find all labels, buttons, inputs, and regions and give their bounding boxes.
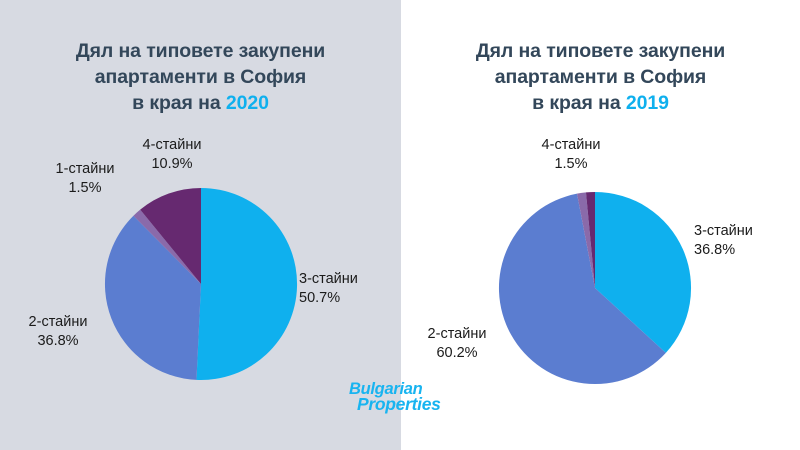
chart-title-2019: Дял на типовете закупени апартаменти в С… — [401, 38, 800, 116]
chart-title-year: 2019 — [626, 92, 669, 114]
chart-title-line-1: Дял на типовете закупени — [76, 40, 325, 62]
chart-panel-2020: Дял на типовете закупени апартаменти в С… — [0, 0, 401, 450]
pie-label-2-stayni-category-2020: 2-стайни — [8, 313, 108, 332]
pie-label-2-stayni-percent-2020: 36.8% — [8, 332, 108, 351]
pie-label-1-stayni-percent-2020: 1.5% — [30, 179, 140, 198]
chart-title-line-3: в края на — [132, 92, 226, 114]
chart-title-line-2: апартаменти в София — [95, 66, 306, 88]
pie-label-3-stayni-percent-2019: 36.8% — [694, 241, 800, 260]
pie-label-3-stayni-percent-2020: 50.7% — [299, 289, 409, 308]
pie-label-4-stayni-2019: 4-стайни 1.5% — [516, 136, 626, 174]
infographic-canvas: Дял на типовете закупени апартаменти в С… — [0, 0, 800, 450]
pie-label-2-stayni-percent-2019: 60.2% — [402, 344, 512, 363]
pie-label-2-stayni-category-2019: 2-стайни — [402, 325, 512, 344]
pie-chart-2019 — [497, 190, 693, 386]
chart-title-year: 2020 — [226, 92, 269, 114]
pie-label-1-stayni-2020: 1-стайни 1.5% — [30, 160, 140, 198]
pie-label-3-stayni-2019: 3-стайни 36.8% — [694, 222, 800, 260]
chart-title-2020: Дял на типовете закупени апартаменти в С… — [0, 38, 401, 116]
pie-svg-2019 — [497, 190, 693, 386]
pie-label-2-stayni-2020: 2-стайни 36.8% — [8, 313, 108, 351]
pie-label-3-stayni-category-2020: 3-стайни — [299, 270, 409, 289]
pie-label-4-stayni-percent-2019: 1.5% — [516, 155, 626, 174]
pie-label-4-stayni-category-2019: 4-стайни — [516, 136, 626, 155]
chart-title-line-3: в края на — [532, 92, 626, 114]
pie-label-4-stayni-category-2020: 4-стайни — [117, 136, 227, 155]
pie-label-3-stayni-2020: 3-стайни 50.7% — [299, 270, 409, 308]
pie-slice-3-stayni-2020 — [196, 188, 297, 380]
pie-label-2-stayni-2019: 2-стайни 60.2% — [402, 325, 512, 363]
chart-title-line-1: Дял на типовете закупени — [476, 40, 725, 62]
pie-svg-2020 — [103, 186, 299, 382]
chart-title-line-2: апартаменти в София — [495, 66, 706, 88]
pie-chart-2020 — [103, 186, 299, 382]
pie-label-1-stayni-category-2020: 1-стайни — [30, 160, 140, 179]
bulgarian-properties-logo[interactable]: Bulgarian Properties — [347, 381, 459, 415]
logo-line-2: Properties — [347, 396, 459, 412]
pie-label-3-stayni-category-2019: 3-стайни — [694, 222, 800, 241]
